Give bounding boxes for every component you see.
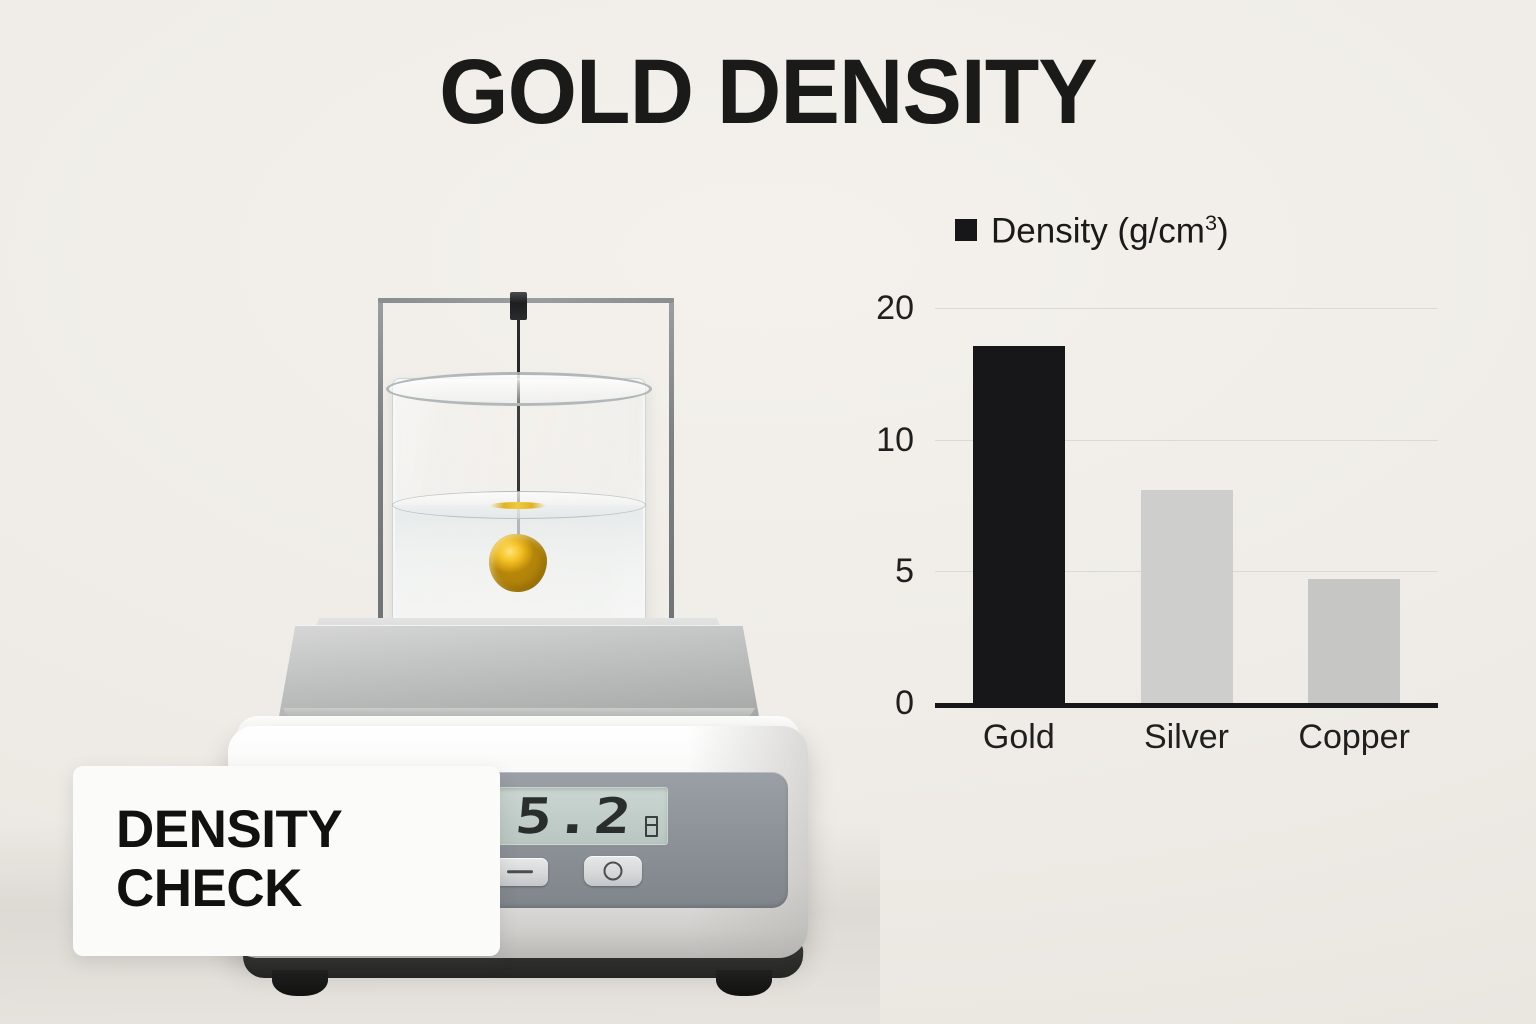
density-bar-chart: Density (g/cm3) 051020 GoldSilverCopper	[850, 190, 1470, 790]
x-axis-label-copper: Copper	[1270, 720, 1438, 754]
x-axis-label-gold: Gold	[935, 720, 1103, 754]
stand-frame-top-left	[378, 298, 510, 303]
bar-gold	[973, 346, 1065, 703]
chart-plot-area: 051020 GoldSilverCopper	[935, 308, 1438, 703]
legend-label-sup: 3	[1205, 210, 1217, 235]
legend-swatch-icon	[955, 219, 977, 241]
badge-text: DENSITY CHECK	[116, 800, 342, 918]
legend-label-text: Density (g/cm	[991, 212, 1205, 251]
y-axis-tick-label: 20	[876, 291, 914, 325]
x-axis-label-silver: Silver	[1103, 720, 1271, 754]
badge-line-2: CHECK	[116, 859, 342, 918]
bar-copper	[1308, 579, 1400, 703]
circle-icon	[604, 862, 623, 881]
wire-clamp	[510, 292, 527, 320]
scale-foot-left	[272, 970, 328, 996]
stand-frame-top-right	[538, 298, 674, 303]
g-unit-icon	[645, 816, 658, 837]
y-axis-tick-label: 0	[895, 686, 914, 720]
badge-line-1: DENSITY	[116, 800, 342, 859]
chart-legend: Density (g/cm3)	[955, 212, 1229, 249]
bar-silver	[1141, 490, 1233, 703]
legend-label: Density (g/cm3)	[991, 212, 1229, 249]
y-axis-tick-label: 5	[895, 554, 914, 588]
density-check-badge: DENSITY CHECK	[73, 766, 500, 956]
waterline-reflection	[490, 502, 546, 509]
gridline	[935, 308, 1438, 309]
dash-icon	[507, 870, 533, 873]
lcd-reading: 5.2	[513, 789, 636, 845]
legend-label-suffix: )	[1217, 212, 1229, 251]
x-axis-line	[935, 703, 1438, 708]
beaker-rim	[386, 372, 652, 406]
y-axis-tick-label: 10	[876, 423, 914, 457]
scale-foot-right	[716, 970, 772, 996]
minus-button-2[interactable]	[492, 858, 548, 886]
poster-canvas: GOLD DENSITY 5.2	[0, 0, 1536, 1024]
tare-button[interactable]	[584, 856, 642, 886]
